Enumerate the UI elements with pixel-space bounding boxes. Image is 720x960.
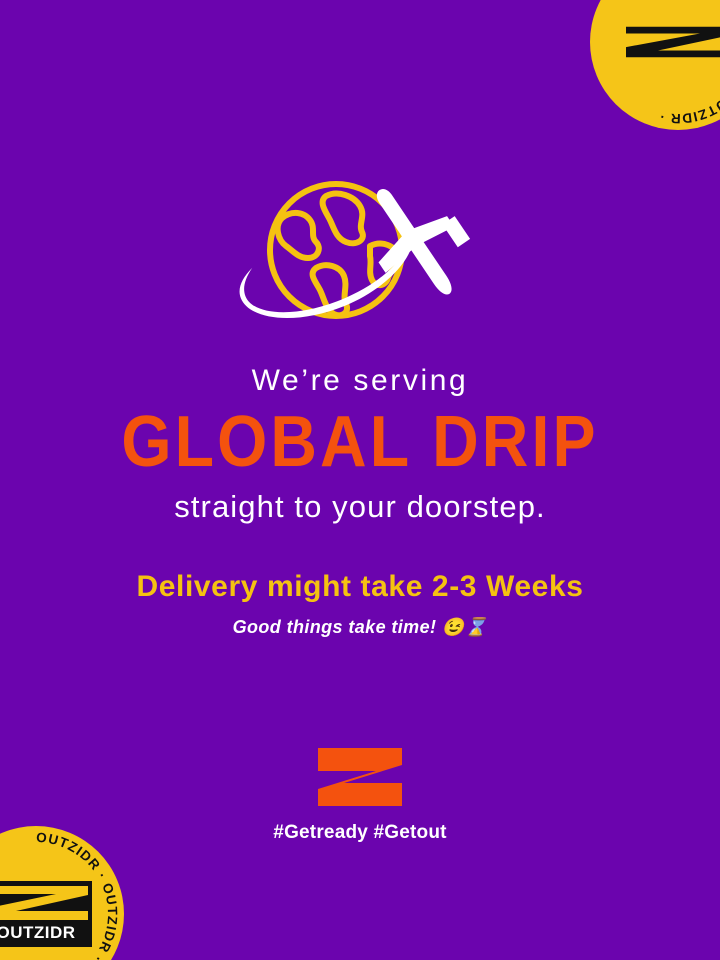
hashtags-text: #Getready #Getout: [0, 823, 720, 842]
badge-bottom-left: OUTZIDR · OUTZIDR · OUTZIDR · OUTZIDR: [0, 826, 124, 960]
badge-core-block: OUTZIDR: [0, 881, 92, 947]
promo-poster: OUTZIDR · OUTZIDR · OUTZIDR · OUTZIDR · …: [0, 0, 720, 960]
reassurance-text: Good things take time! 😉⌛: [0, 618, 720, 636]
subline-text: straight to your doorstep.: [0, 491, 720, 522]
page-title: GLOBAL DRIP: [0, 407, 720, 479]
badge-core-bottom-left: OUTZIDR: [0, 881, 92, 947]
kicker-text: We’re serving: [0, 366, 720, 396]
badge-wordmark-icon: OUTZIDR: [0, 922, 88, 943]
copy-block: We’re serving GLOBAL DRIP straight to yo…: [0, 366, 720, 636]
globe-plane-illustration: [230, 172, 490, 344]
badge-top-right: OUTZIDR · OUTZIDR · OUTZIDR ·: [590, 0, 720, 130]
outzidr-z-logo-icon: [318, 748, 402, 806]
hero-art-svg: [230, 172, 490, 344]
footer-brand: #Getready #Getout: [0, 748, 720, 842]
badge-ring-label: OUTZIDR · OUTZIDR · OUTZIDR ·: [657, 0, 720, 126]
z-mark-icon: [0, 886, 88, 920]
badge-ring-text-top-right: OUTZIDR · OUTZIDR · OUTZIDR ·: [590, 0, 720, 130]
badge-wordmark-text: OUTZIDR: [0, 923, 76, 942]
delivery-notice: Delivery might take 2-3 Weeks: [0, 572, 720, 602]
badge-core-top-right: [622, 25, 720, 59]
z-mark-icon: [622, 25, 720, 59]
